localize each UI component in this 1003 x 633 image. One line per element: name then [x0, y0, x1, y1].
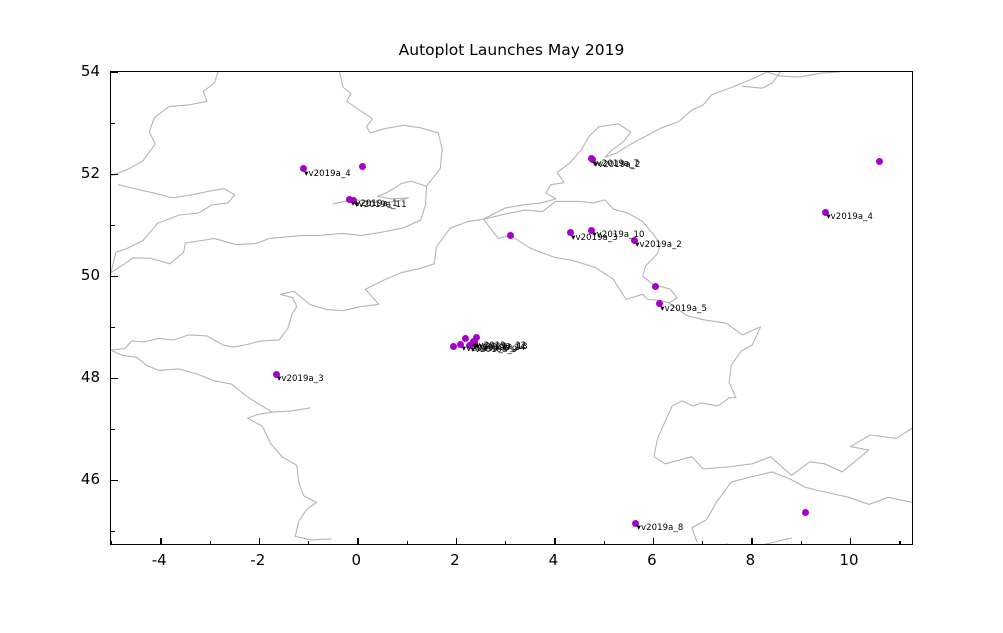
data-point-label: ▾v2019a_5 — [660, 305, 707, 314]
y-axis-tick-label: 46 — [100, 470, 119, 488]
x-axis-tick-label: -4 — [152, 551, 167, 569]
x-axis-minor-tick — [210, 541, 211, 545]
x-axis-tick — [357, 538, 358, 545]
data-point-marker — [876, 158, 883, 165]
data-point-label: ▾v2019a_11 — [354, 201, 406, 210]
y-axis-minor-tick — [111, 225, 115, 226]
plot-area[interactable]: ▾v2019a_4▾v2019a_1▾v2019a_11▾v2019a_3▾v2… — [110, 71, 913, 545]
x-axis-tick-label: 6 — [647, 551, 657, 569]
x-axis-minor-tick — [899, 541, 900, 545]
x-axis-tick-label: 8 — [746, 551, 756, 569]
data-point-label: ▾v2019a_8 — [637, 524, 684, 533]
x-axis-minor-tick — [604, 541, 605, 545]
y-axis-tick-label: 50 — [100, 266, 119, 284]
y-axis-tick-label: 52 — [100, 164, 119, 182]
data-point-marker — [507, 232, 514, 239]
data-point-marker — [473, 334, 480, 341]
x-axis-tick — [456, 538, 457, 545]
x-axis-minor-tick — [407, 541, 408, 545]
x-axis-minor-tick — [111, 541, 112, 545]
data-point-label: ▾v2019a_9 — [471, 346, 518, 355]
x-axis-tick-label: 2 — [450, 551, 460, 569]
x-axis-tick — [751, 538, 752, 545]
x-axis-tick — [554, 538, 555, 545]
x-axis-minor-tick — [505, 541, 506, 545]
data-point-marker — [462, 335, 469, 342]
x-axis-tick — [850, 538, 851, 545]
y-axis-minor-tick — [111, 531, 115, 532]
data-point-label: ▾v2019a_2 — [594, 161, 641, 170]
x-axis-minor-tick — [702, 541, 703, 545]
data-point-marker — [450, 343, 457, 350]
y-axis-minor-tick — [111, 327, 115, 328]
x-axis-tick-label: 4 — [549, 551, 559, 569]
x-axis-minor-tick — [308, 541, 309, 545]
x-axis-tick-label: -2 — [250, 551, 265, 569]
x-axis-tick-label: 10 — [839, 551, 858, 569]
data-point-marker — [652, 283, 659, 290]
x-axis-tick — [160, 538, 161, 545]
x-axis-tick — [653, 538, 654, 545]
page-title: Autoplot Launches May 2019 — [110, 41, 913, 59]
x-axis-minor-tick — [801, 541, 802, 545]
figure-canvas: Autoplot Launches May 2019 — [0, 0, 1003, 633]
data-point-label: ▾v2019a_4 — [304, 170, 351, 179]
data-point-label: ▾v2019a_3 — [277, 375, 324, 384]
y-axis-tick-label: 54 — [100, 62, 119, 80]
data-point-marker — [359, 163, 366, 170]
coastline-map — [111, 72, 912, 544]
y-axis-minor-tick — [111, 429, 115, 430]
x-axis-tick — [259, 538, 260, 545]
data-point-label: ▾v2019a_10 — [592, 231, 644, 240]
y-axis-tick-label: 48 — [100, 368, 119, 386]
y-axis-minor-tick — [111, 123, 115, 124]
data-point-label: ▾v2019a_4 — [826, 213, 873, 222]
data-point-label: ▾v2019a_2 — [635, 241, 682, 250]
x-axis-tick-label: 0 — [352, 551, 362, 569]
